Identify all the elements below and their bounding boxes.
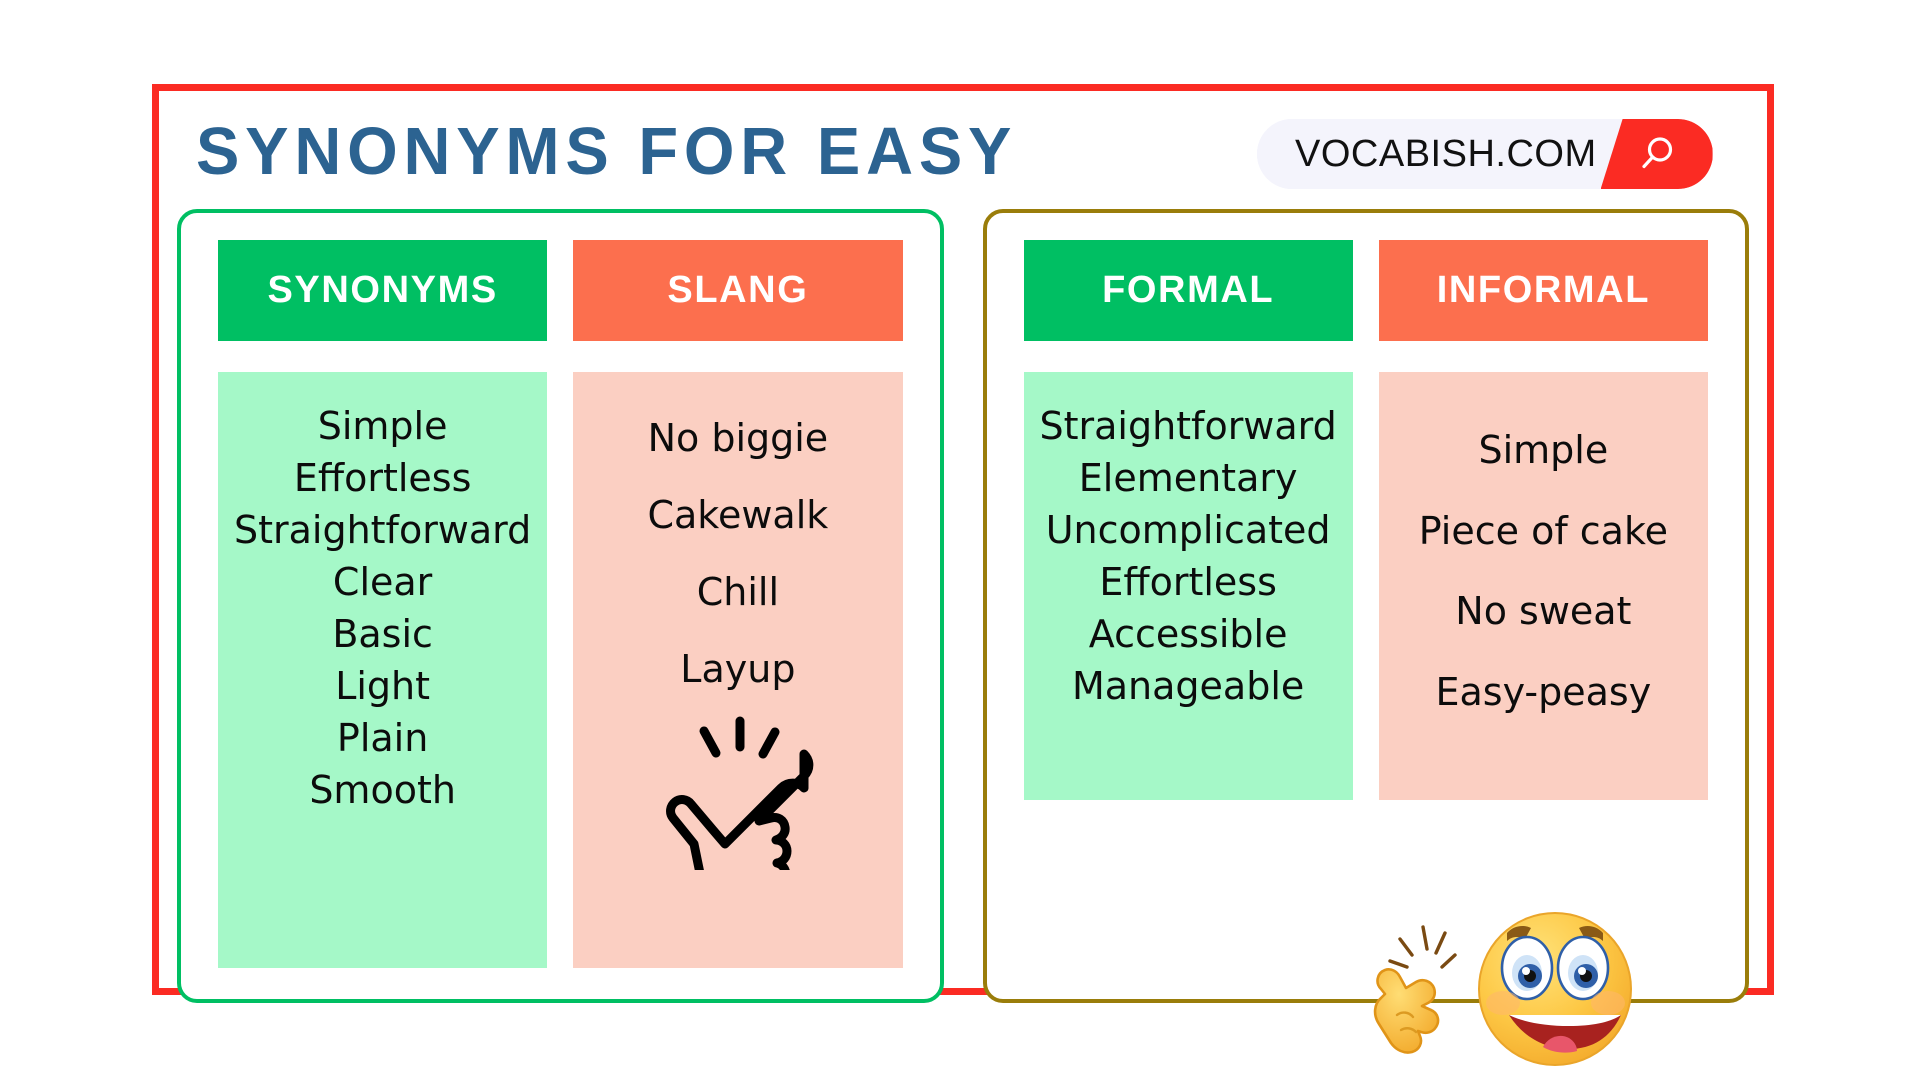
word-list-synonyms: Simple Effortless Straightforward Clear …: [218, 372, 547, 968]
list-item: Simple: [1478, 410, 1608, 491]
list-item: Smooth: [309, 764, 456, 816]
list-item: Layup: [680, 631, 795, 708]
word-list-slang: No biggie Cakewalk Chill Layup: [573, 372, 902, 968]
list-item: Straightforward: [234, 504, 531, 556]
column-informal: INFORMAL Simple Piece of cake No sweat E…: [1379, 240, 1708, 968]
list-item: Manageable: [1072, 660, 1304, 712]
page-title: SYNONYMS FOR EASY: [196, 118, 1017, 185]
column-heading-formal: FORMAL: [1024, 240, 1353, 341]
list-item: No sweat: [1455, 571, 1631, 652]
list-item: Accessible: [1089, 608, 1288, 660]
infographic-canvas: SYNONYMS FOR EASY VOCABISH.COM SYNONYMS: [0, 0, 1920, 1080]
list-item: Straightforward: [1039, 400, 1336, 452]
list-item: Piece of cake: [1419, 491, 1668, 572]
list-item: Chill: [697, 554, 779, 631]
column-slang: SLANG No biggie Cakewalk Chill Layup: [573, 240, 902, 968]
list-item: Uncomplicated: [1046, 504, 1331, 556]
list-item: Elementary: [1079, 452, 1298, 504]
list-item: Simple: [318, 400, 448, 452]
word-list-formal: Straightforward Elementary Uncomplicated…: [1024, 372, 1353, 800]
list-item: No biggie: [648, 400, 829, 477]
list-item: Cakewalk: [647, 477, 828, 554]
panel-right: FORMAL Straightforward Elementary Uncomp…: [983, 209, 1750, 1003]
column-heading-slang: SLANG: [573, 240, 902, 341]
outer-red-frame: SYNONYMS FOR EASY VOCABISH.COM SYNONYMS: [152, 84, 1774, 995]
list-item: Light: [335, 660, 430, 712]
word-list-informal: Simple Piece of cake No sweat Easy-peasy: [1379, 372, 1708, 800]
column-heading-informal: INFORMAL: [1379, 240, 1708, 341]
panel-left: SYNONYMS Simple Effortless Straightforwa…: [177, 209, 944, 1003]
list-item: Basic: [332, 608, 433, 660]
snapping-fingers-hand-icon: [654, 715, 822, 870]
panels-row: SYNONYMS Simple Effortless Straightforwa…: [159, 209, 1767, 1003]
list-item: Effortless: [294, 452, 472, 504]
list-item: Clear: [333, 556, 432, 608]
search-pill[interactable]: VOCABISH.COM: [1257, 119, 1713, 189]
brand-label: VOCABISH.COM: [1257, 119, 1623, 189]
column-heading-synonyms: SYNONYMS: [218, 240, 547, 341]
list-item: Effortless: [1099, 556, 1277, 608]
column-synonyms: SYNONYMS Simple Effortless Straightforwa…: [218, 240, 547, 968]
list-item: Easy-peasy: [1436, 652, 1652, 733]
list-item: Plain: [337, 712, 428, 764]
search-icon: [1635, 132, 1679, 176]
column-formal: FORMAL Straightforward Elementary Uncomp…: [1024, 240, 1353, 968]
